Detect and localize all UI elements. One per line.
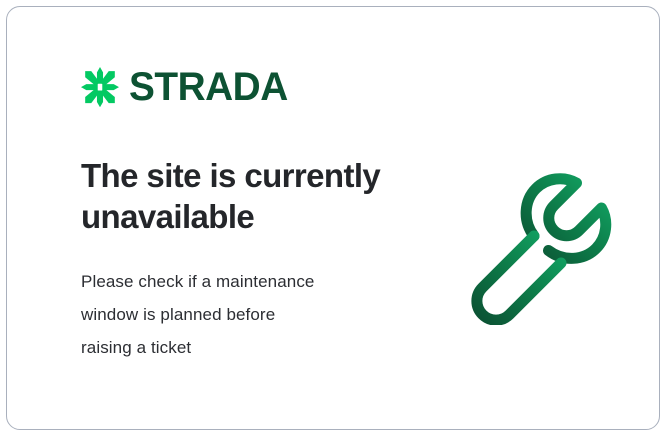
- description-line: Please check if a maintenance: [81, 265, 381, 298]
- wrench-illustration: [462, 155, 624, 325]
- page-title: The site is currently unavailable: [81, 156, 411, 238]
- brand-lockup: STRADA: [81, 63, 441, 111]
- error-page: STRADA The site is currently unavailable…: [0, 0, 666, 436]
- brand-wordmark: STRADA: [129, 67, 288, 107]
- starburst-asterisk-icon: [81, 67, 119, 107]
- content-column: STRADA The site is currently unavailable…: [81, 63, 441, 364]
- page-description: Please check if a maintenance window is …: [81, 265, 381, 364]
- description-line: raising a ticket: [81, 331, 381, 364]
- status-card: STRADA The site is currently unavailable…: [6, 6, 660, 430]
- description-line: window is planned before: [81, 298, 381, 331]
